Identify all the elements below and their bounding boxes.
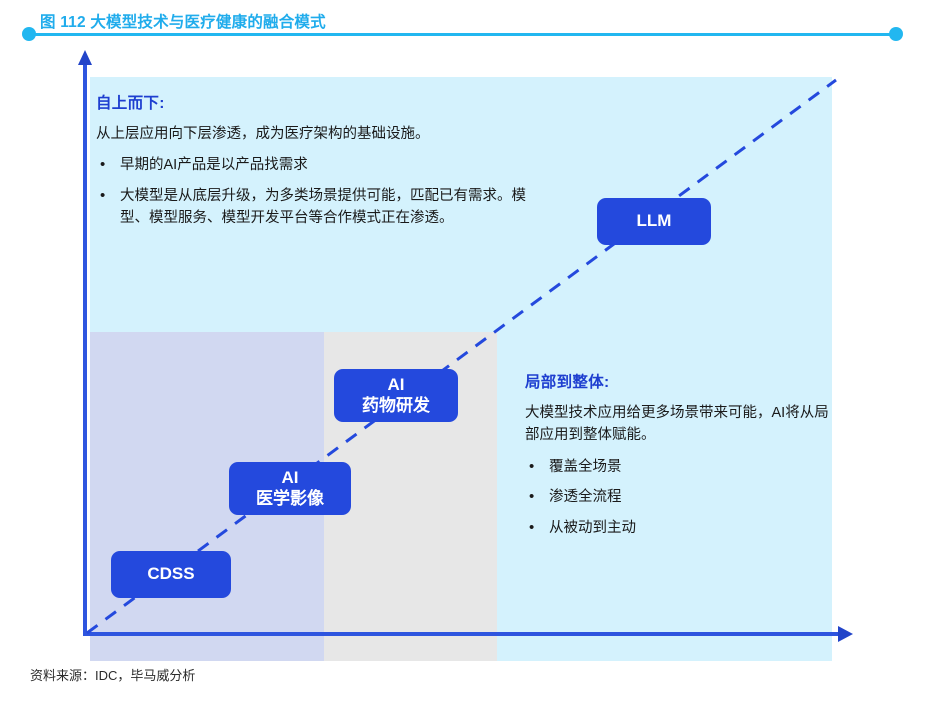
page-root: 图 112 大模型技术与医疗健康的融合模式 自上而下: 从上层应用向下层渗透，成… [0,0,928,702]
text-block-top-down: 自上而下: 从上层应用向下层渗透，成为医疗架构的基础设施。 早期的AI产品是以产… [96,91,526,238]
chart-title-bar: 图 112 大模型技术与医疗健康的融合模式 [0,0,928,50]
list-item: 渗透全流程 [525,486,835,508]
node-ai-drug-discovery: AI 药物研发 [334,369,458,422]
list-item: 早期的AI产品是以产品找需求 [96,154,526,176]
list-item: 从被动到主动 [525,517,835,539]
node-ai-drug-discovery-label-1: AI [388,375,405,396]
local-to-global-bullet-list: 覆盖全场景 渗透全流程 从被动到主动 [525,456,835,539]
diagram-canvas: 自上而下: 从上层应用向下层渗透，成为医疗架构的基础设施。 早期的AI产品是以产… [0,50,928,650]
list-item: 覆盖全场景 [525,456,835,478]
title-dot-right-icon [889,27,903,41]
top-down-bullet-list: 早期的AI产品是以产品找需求 大模型是从底层升级，为多类场景提供可能，匹配已有需… [96,154,526,229]
node-ai-drug-discovery-label-2: 药物研发 [362,396,430,417]
node-llm-label: LLM [637,211,672,232]
y-axis-line [83,62,87,636]
local-to-global-lead: 大模型技术应用给更多场景带来可能，AI将从局部应用到整体赋能。 [525,402,835,447]
node-ai-medical-imaging-label-1: AI [282,468,299,489]
node-ai-medical-imaging-label-2: 医学影像 [256,489,324,510]
source-note: 资料来源：IDC，毕马威分析 [30,665,195,684]
local-to-global-heading: 局部到整体: [525,370,835,392]
node-ai-medical-imaging: AI 医学影像 [229,462,351,515]
node-cdss: CDSS [111,551,231,598]
title-dot-left-icon [22,27,36,41]
node-cdss-label: CDSS [147,564,194,585]
page-title: 图 112 大模型技术与医疗健康的融合模式 [40,10,326,32]
top-down-lead: 从上层应用向下层渗透，成为医疗架构的基础设施。 [96,123,526,145]
list-item: 大模型是从底层升级，为多类场景提供可能，匹配已有需求。模型、模型服务、模型开发平… [96,185,526,230]
node-llm: LLM [597,198,711,245]
x-axis-line [83,632,840,636]
x-axis-arrow-icon [838,626,853,642]
text-block-local-to-global: 局部到整体: 大模型技术应用给更多场景带来可能，AI将从局部应用到整体赋能。 覆… [525,370,835,547]
title-rule [28,33,902,36]
y-axis-arrow-icon [78,50,92,65]
top-down-heading: 自上而下: [96,91,526,113]
